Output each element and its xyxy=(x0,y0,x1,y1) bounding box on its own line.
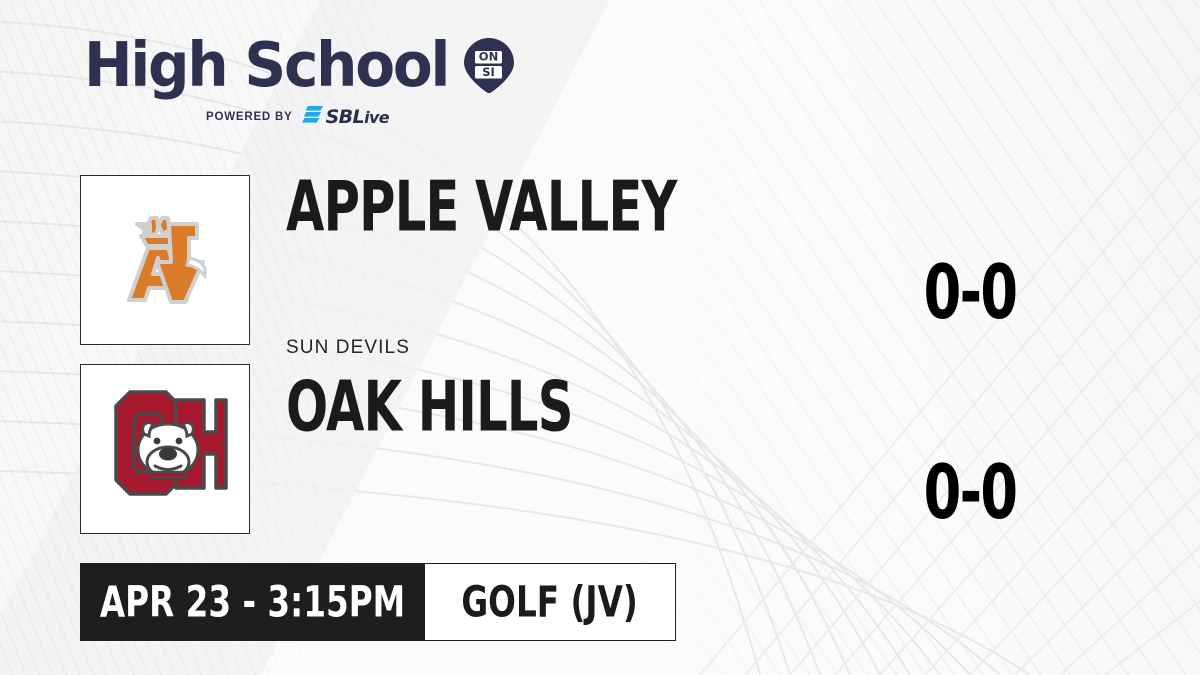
brand-title-row: High School ON SI xyxy=(84,36,518,94)
brand-header: High School ON SI POWERED BY xyxy=(84,36,518,129)
away-team-score: 0-0 xyxy=(917,255,1024,330)
home-team-logo-box xyxy=(80,364,250,534)
game-sport-block: GOLF (JV) xyxy=(425,563,676,641)
svg-text:SI: SI xyxy=(482,65,495,79)
powered-by-label: POWERED BY xyxy=(206,111,293,123)
sblive-suffix: ive xyxy=(364,108,389,127)
page-title: High School xyxy=(84,34,448,95)
game-sport-label: GOLF (JV) xyxy=(462,581,638,624)
sblive-wordmark: SBLive xyxy=(326,108,389,127)
sblive-s-mark-icon xyxy=(302,105,324,129)
onsi-pin-icon: ON SI xyxy=(460,36,518,94)
apple-valley-logo-icon xyxy=(101,196,229,324)
game-datetime-label: APR 23 - 3:15PM xyxy=(100,581,405,624)
svg-text:ON: ON xyxy=(479,50,498,64)
away-team-name: APPLE VALLEY xyxy=(286,172,677,241)
powered-by-row: POWERED BY SBLive xyxy=(206,105,518,129)
oak-hills-logo-icon xyxy=(100,388,230,510)
sblive-logo: SBLive xyxy=(302,105,389,129)
sblive-main: SBL xyxy=(326,106,364,128)
game-datetime-block: APR 23 - 3:15PM xyxy=(80,563,425,641)
home-team-score: 0-0 xyxy=(917,455,1024,530)
bulldog-mascot-icon xyxy=(138,423,198,478)
away-team-logo-box xyxy=(80,175,250,345)
game-info-bar: APR 23 - 3:15PM GOLF (JV) xyxy=(80,563,676,641)
home-team-mascot: SUN DEVILS xyxy=(286,337,410,359)
home-team-name: OAK HILLS xyxy=(286,372,573,441)
